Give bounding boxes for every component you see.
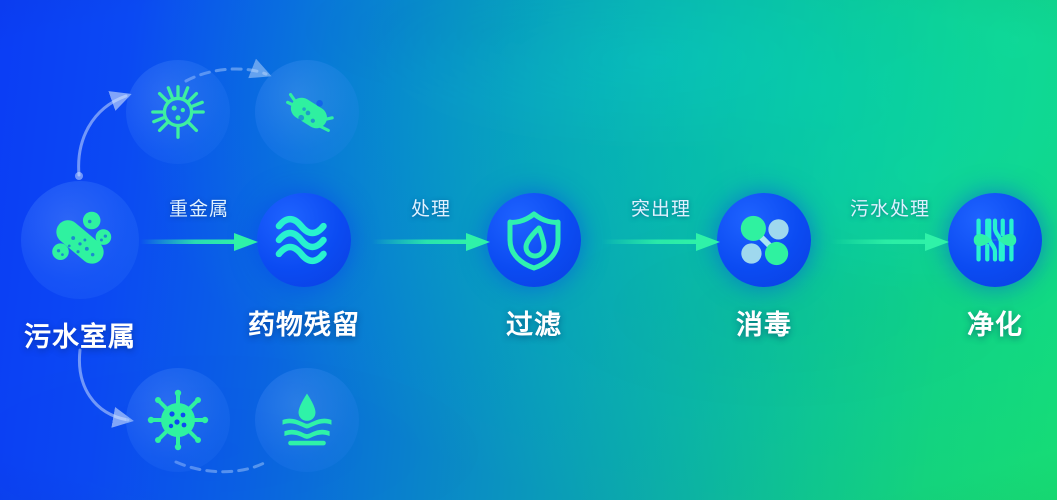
flow-node-label: 消毒 [684, 303, 844, 342]
connector-up [79, 96, 126, 175]
shield-droplet-icon [506, 210, 562, 270]
flow-arrow-label: 处理 [372, 194, 490, 221]
arrow-right-icon [602, 231, 720, 253]
filter-membrane-icon [966, 211, 1024, 269]
molecule-dots-icon [735, 211, 793, 269]
flow-arrow-label: 突出理 [602, 194, 720, 221]
arrow-right-icon [140, 231, 258, 253]
water-droplet-layers-icon [275, 391, 339, 449]
satellite-virus-solid [126, 368, 230, 472]
diagram-canvas: 污水室属 药物残留 过滤 [0, 0, 1057, 500]
satellite-water-soil [255, 368, 359, 472]
flow-arrow-1: 重金属 [140, 194, 258, 253]
flow-node-label: 净化 [915, 303, 1057, 342]
flow-node-label: 过滤 [454, 303, 614, 342]
node-disc [717, 193, 811, 287]
water-waves-icon [274, 214, 334, 266]
flow-arrow-2: 处理 [372, 194, 490, 253]
arrow-right-icon [372, 231, 490, 253]
satellite-bacillus [255, 60, 359, 164]
node-disc [487, 193, 581, 287]
flow-node-source[interactable]: 污水室属 [0, 181, 160, 354]
flow-node-label: 污水室属 [0, 315, 160, 354]
flow-node-label: 药物残留 [224, 303, 384, 342]
bacteria-rod-icon [41, 201, 119, 279]
flow-arrow-label: 重金属 [140, 194, 258, 221]
flow-arrow-4: 污水处理 [831, 194, 949, 253]
bacillus-icon [276, 81, 338, 143]
flow-arrow-3: 突出理 [602, 194, 720, 253]
virus-solid-icon [146, 388, 210, 452]
arrow-right-icon [831, 231, 949, 253]
virus-outline-icon [147, 81, 209, 143]
satellite-virus-outline [126, 60, 230, 164]
connector-down [79, 350, 128, 420]
flow-arrow-label: 污水处理 [831, 194, 949, 221]
node-disc [948, 193, 1042, 287]
node-disc [257, 193, 351, 287]
node-disc [21, 181, 139, 299]
